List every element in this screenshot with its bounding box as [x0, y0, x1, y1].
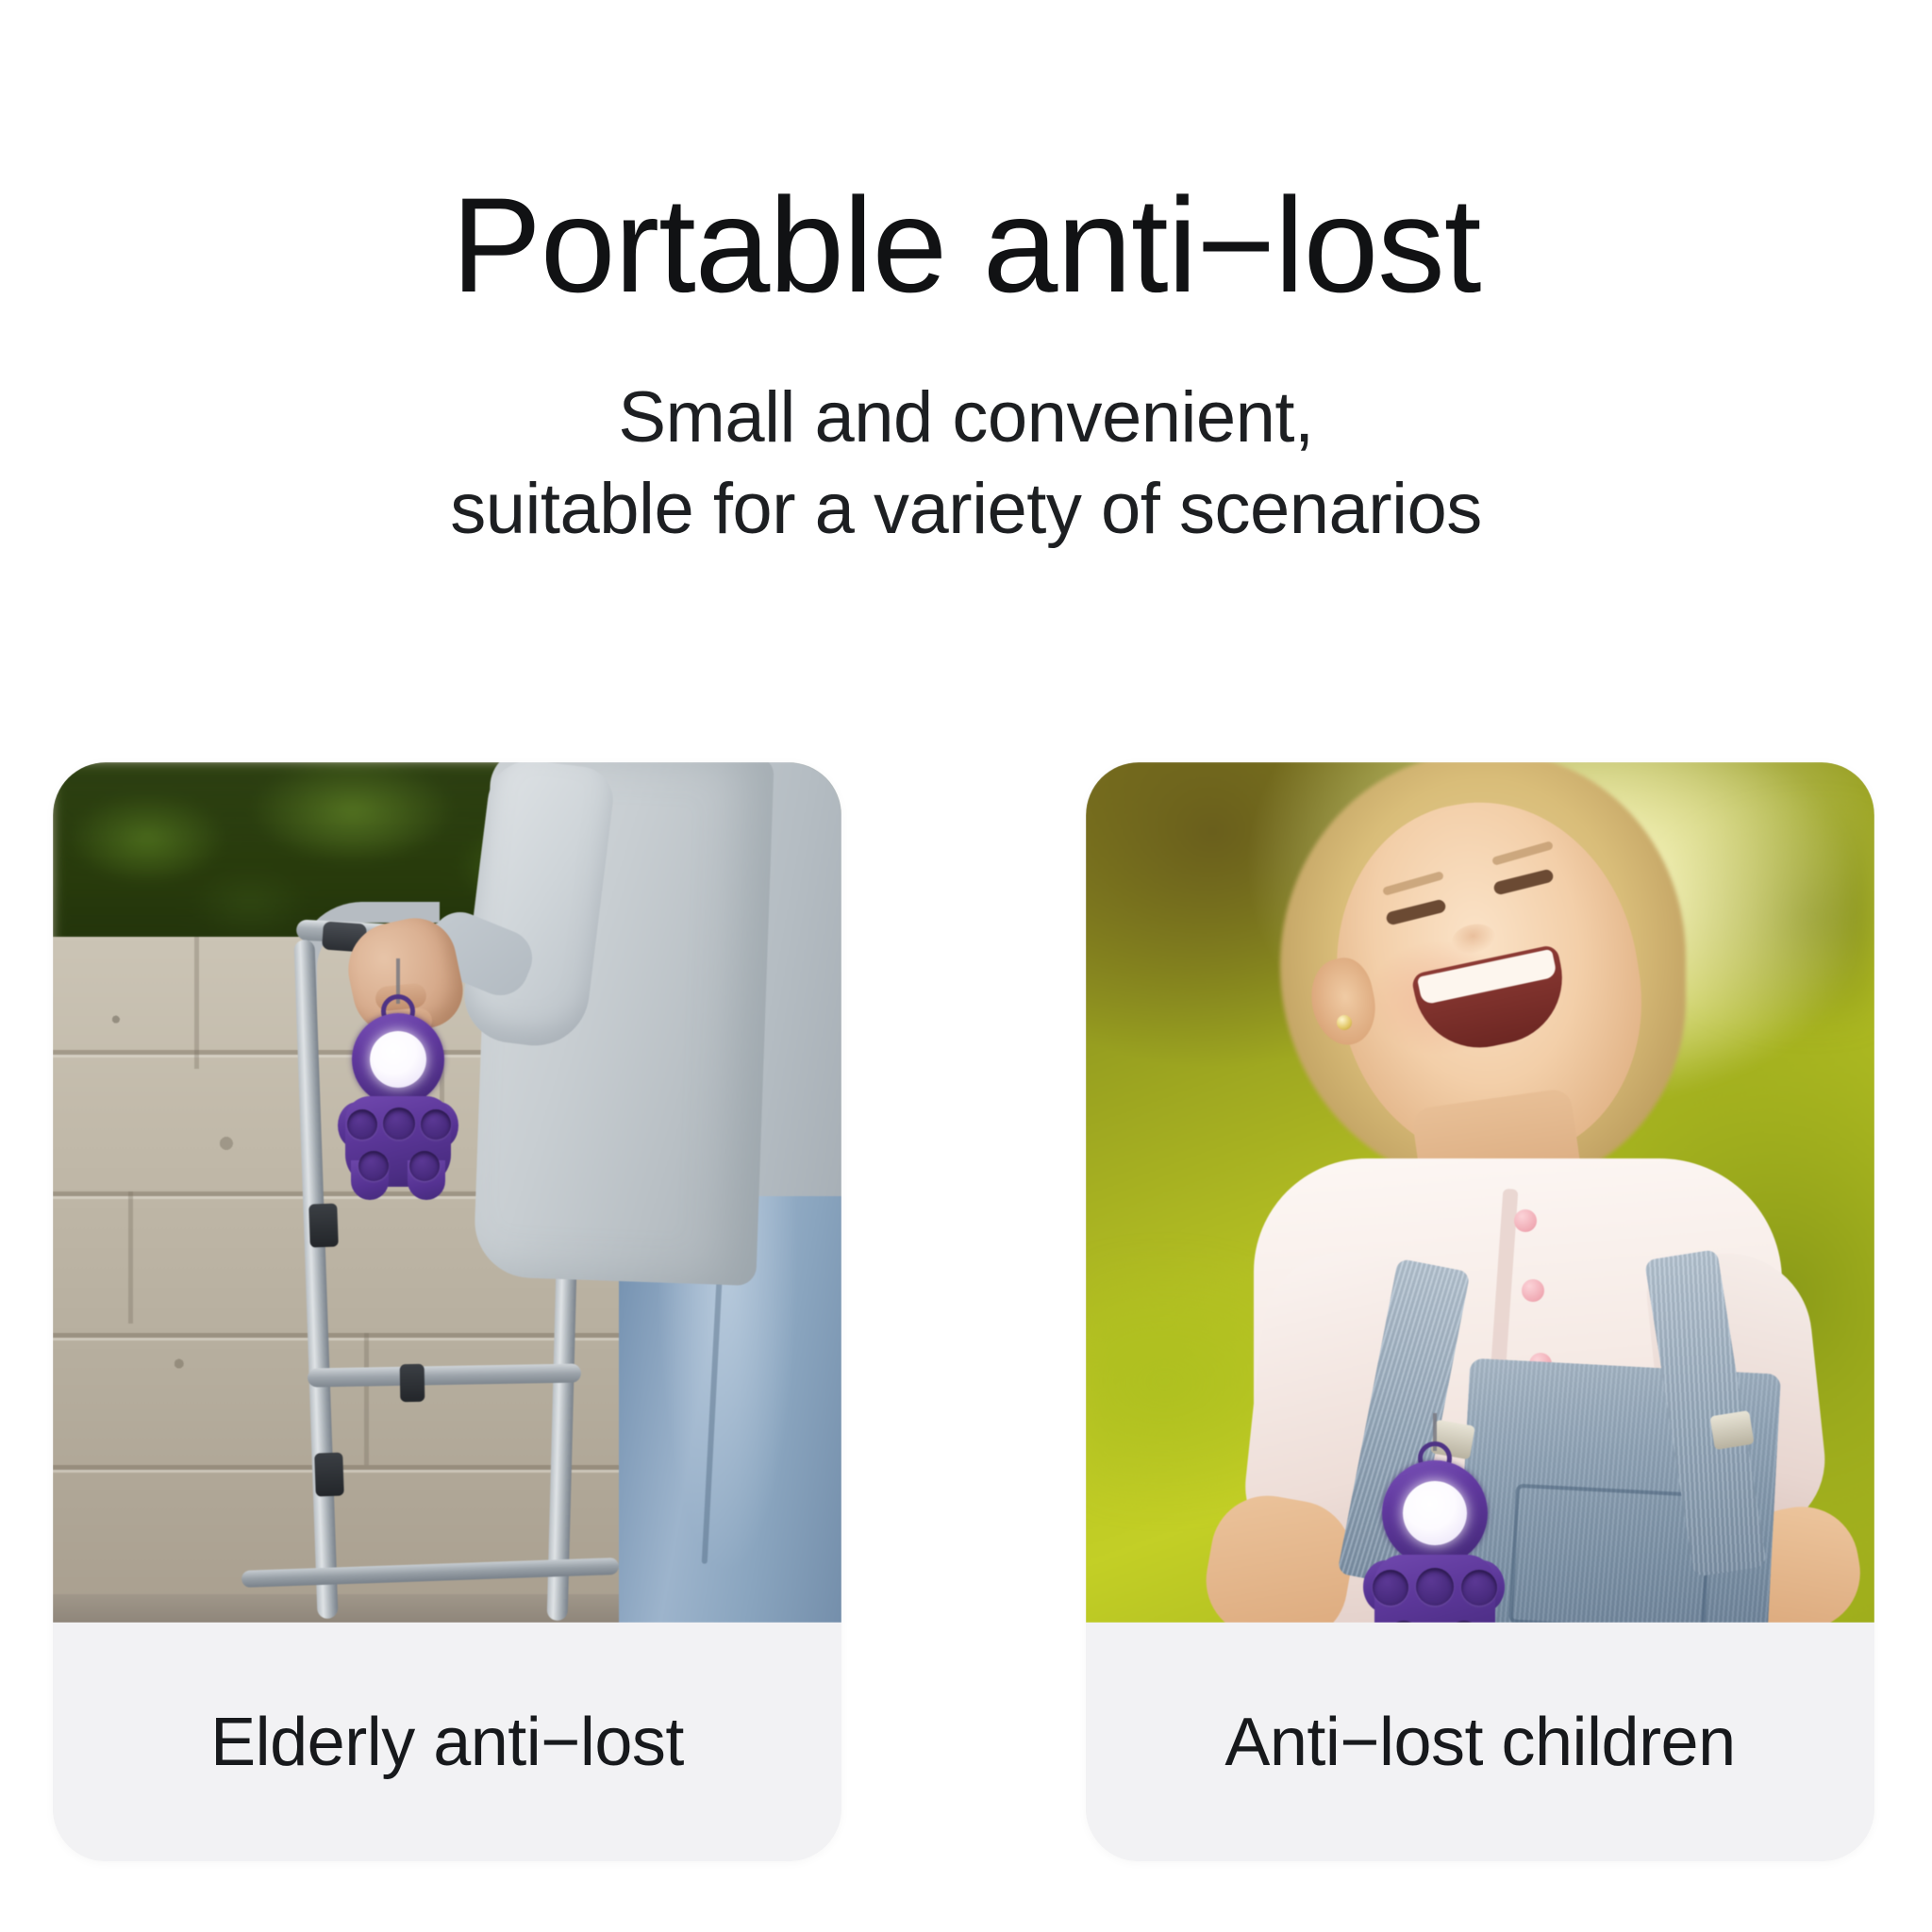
device-bubble — [421, 1109, 451, 1140]
tshirt-button — [1522, 1279, 1544, 1302]
device-head — [1382, 1460, 1488, 1566]
device-bubble — [1461, 1570, 1497, 1606]
anti-lost-keychain-device — [332, 958, 464, 1204]
device-bubble — [358, 1151, 389, 1181]
device-bubble — [383, 1108, 415, 1140]
page-title: Portable anti−lost — [0, 0, 1932, 315]
scene-card-caption: Anti−lost children — [1224, 1704, 1735, 1781]
device-indicator-light — [370, 1031, 426, 1088]
device-bubble — [347, 1109, 377, 1140]
device-bubble — [409, 1151, 440, 1181]
page-subtitle: Small and convenient, suitable for a var… — [0, 315, 1932, 556]
caption-strip-children: Anti−lost children — [1086, 1623, 1874, 1861]
photo-child-in-overalls — [1086, 762, 1874, 1623]
scene-card-caption: Elderly anti−lost — [210, 1704, 684, 1781]
device-bubble — [1416, 1568, 1454, 1606]
walker-clamp — [400, 1364, 425, 1402]
subtitle-line-2: suitable for a variety of scenarios — [0, 463, 1932, 555]
tshirt-button — [1514, 1209, 1537, 1232]
header: Portable anti−lost Small and convenient,… — [0, 0, 1932, 555]
caption-strip-elderly: Elderly anti−lost — [53, 1623, 841, 1861]
subtitle-line-1: Small and convenient, — [0, 372, 1932, 463]
denim-bib-pocket — [1508, 1484, 1711, 1623]
device-indicator-light — [1403, 1481, 1467, 1545]
scene-card-children[interactable]: Anti−lost children — [1086, 762, 1874, 1861]
scene-card-grid: Elderly anti−lost — [0, 762, 1932, 1866]
photo-elderly-with-walker — [53, 762, 841, 1623]
child-earring — [1337, 1015, 1352, 1030]
anti-lost-keychain-device — [1359, 1413, 1510, 1623]
device-bubble — [1373, 1570, 1408, 1606]
device-head — [352, 1013, 444, 1106]
denim-buckle — [1709, 1410, 1754, 1450]
scene-card-elderly[interactable]: Elderly anti−lost — [53, 762, 841, 1861]
walker-clamp — [314, 1452, 344, 1496]
walker-clamp — [308, 1203, 339, 1247]
